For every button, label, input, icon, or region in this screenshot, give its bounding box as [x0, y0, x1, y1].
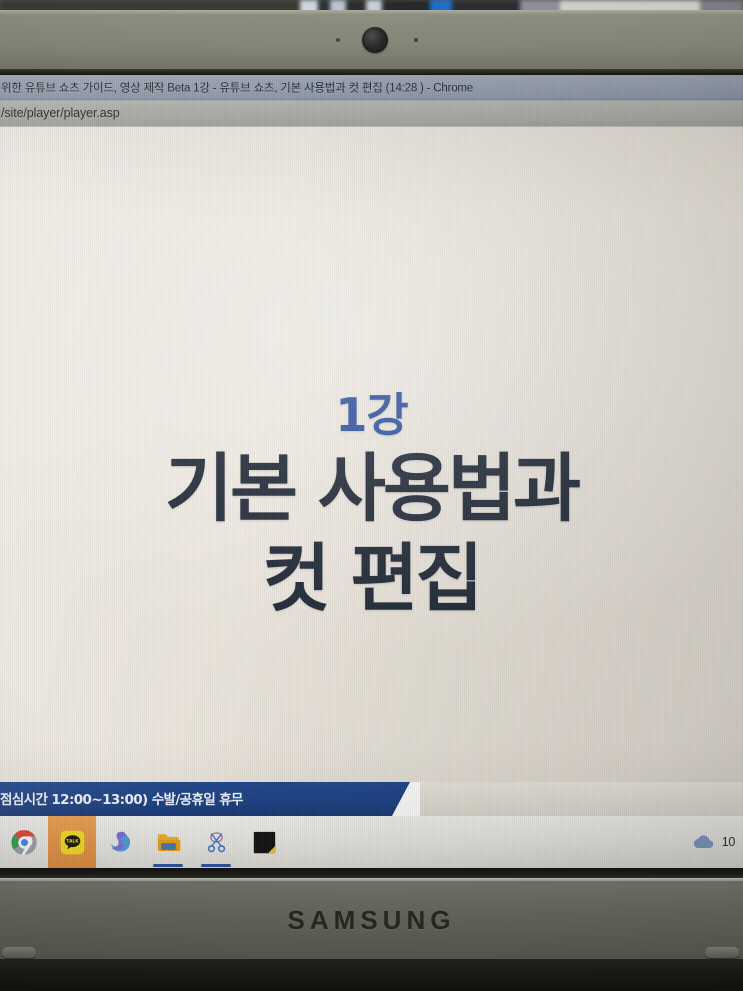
site-notice-banner: 점심시간 12:00~13:00) 수발/공휴일 휴무	[0, 782, 743, 816]
taskbar-running-underline	[153, 864, 183, 867]
photographed-laptop: 위한 유튜브 쇼츠 가이드, 영상 제작 Beta 1강 - 유튜브 쇼츠, 기…	[0, 0, 743, 991]
site-banner-right-fill	[420, 782, 743, 816]
browser-window-title: 위한 유튜브 쇼츠 가이드, 영상 제작 Beta 1강 - 유튜브 쇼츠, 기…	[0, 80, 473, 96]
cloud-icon	[692, 833, 716, 851]
taskbar-running-underline	[201, 864, 231, 867]
hinge-left	[2, 947, 36, 958]
browser-address-bar[interactable]: /site/player/player.asp	[0, 101, 743, 125]
kakaotalk-icon: TALK	[59, 829, 86, 856]
laptop-screen: 위한 유튜브 쇼츠 가이드, 영상 제작 Beta 1강 - 유튜브 쇼츠, 기…	[0, 75, 743, 868]
taskbar-item-file-explorer[interactable]	[144, 816, 192, 868]
microsoft365-icon	[107, 829, 134, 856]
microphone-icon	[414, 38, 418, 42]
chrome-icon	[11, 829, 38, 856]
taskbar-item-notes[interactable]	[240, 816, 288, 868]
folder-icon	[155, 829, 182, 856]
tray-temperature: 10	[722, 835, 735, 849]
slide-kicker: 1강	[0, 392, 743, 438]
hinge-right	[705, 947, 739, 958]
taskbar-item-chrome[interactable]	[0, 816, 48, 868]
site-notice-text: 점심시간 12:00~13:00) 수발/공휴일 휴무	[0, 788, 243, 808]
sticky-note-icon	[251, 829, 278, 856]
taskbar-item-microsoft365[interactable]	[96, 816, 144, 868]
browser-titlebar[interactable]: 위한 유튜브 쇼츠 가이드, 영상 제작 Beta 1강 - 유튜브 쇼츠, 기…	[0, 75, 743, 99]
address-bar-value: /site/player/player.asp	[0, 106, 120, 120]
microphone-icon	[336, 38, 340, 42]
lesson-slide[interactable]: 1강 기본 사용법과 컷 편집	[0, 127, 743, 782]
webcam-icon	[362, 27, 388, 53]
laptop-base-shadow	[0, 959, 743, 991]
taskbar-system-tray[interactable]: 10	[692, 816, 735, 868]
scissors-icon	[203, 829, 230, 856]
windows-taskbar[interactable]: TALK	[0, 816, 743, 868]
taskbar-item-snipping-tool[interactable]	[192, 816, 240, 868]
brand-logo: SAMSUNG	[0, 905, 743, 936]
slide-headline-line2: 컷 편집	[0, 542, 743, 616]
svg-text:TALK: TALK	[66, 838, 79, 844]
slide-headline-line1: 기본 사용법과	[0, 452, 743, 526]
taskbar-item-kakaotalk[interactable]: TALK	[48, 816, 96, 868]
